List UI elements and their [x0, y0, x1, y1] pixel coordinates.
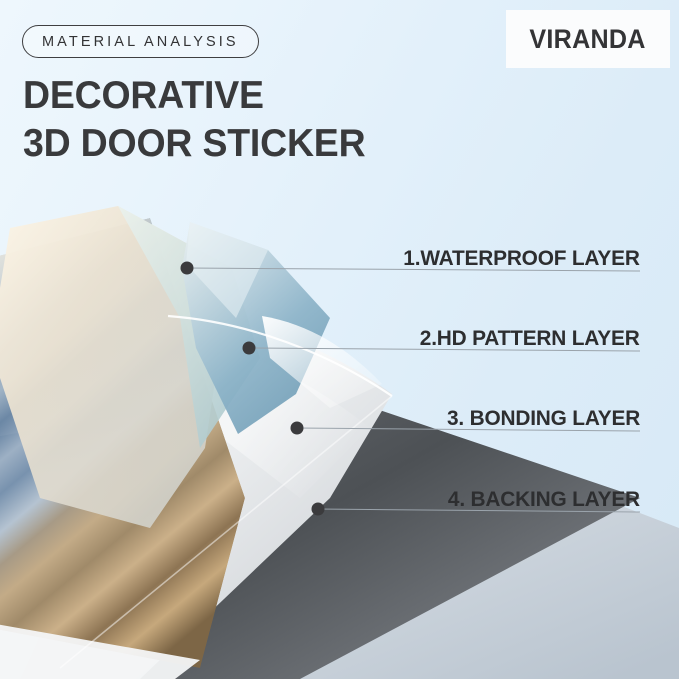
brand-logo-box: VIRANDA [506, 10, 670, 68]
brand-name: VIRANDA [530, 24, 646, 55]
callout-label-3: 3. BONDING LAYER [447, 406, 640, 431]
product-infographic: MATERIAL ANALYSIS VIRANDA DECORATIVE 3D … [0, 0, 679, 679]
material-analysis-badge: MATERIAL ANALYSIS [22, 25, 259, 58]
title-line-1: DECORATIVE [23, 72, 522, 120]
callout-label-4: 4. BACKING LAYER [448, 487, 640, 512]
callout-label-2: 2.HD PATTERN LAYER [420, 326, 640, 351]
callout-label-1: 1.WATERPROOF LAYER [404, 246, 640, 271]
page-title: DECORATIVE 3D DOOR STICKER [23, 72, 543, 168]
badge-label: MATERIAL ANALYSIS [42, 34, 239, 50]
title-line-2: 3D DOOR STICKER [23, 120, 522, 168]
